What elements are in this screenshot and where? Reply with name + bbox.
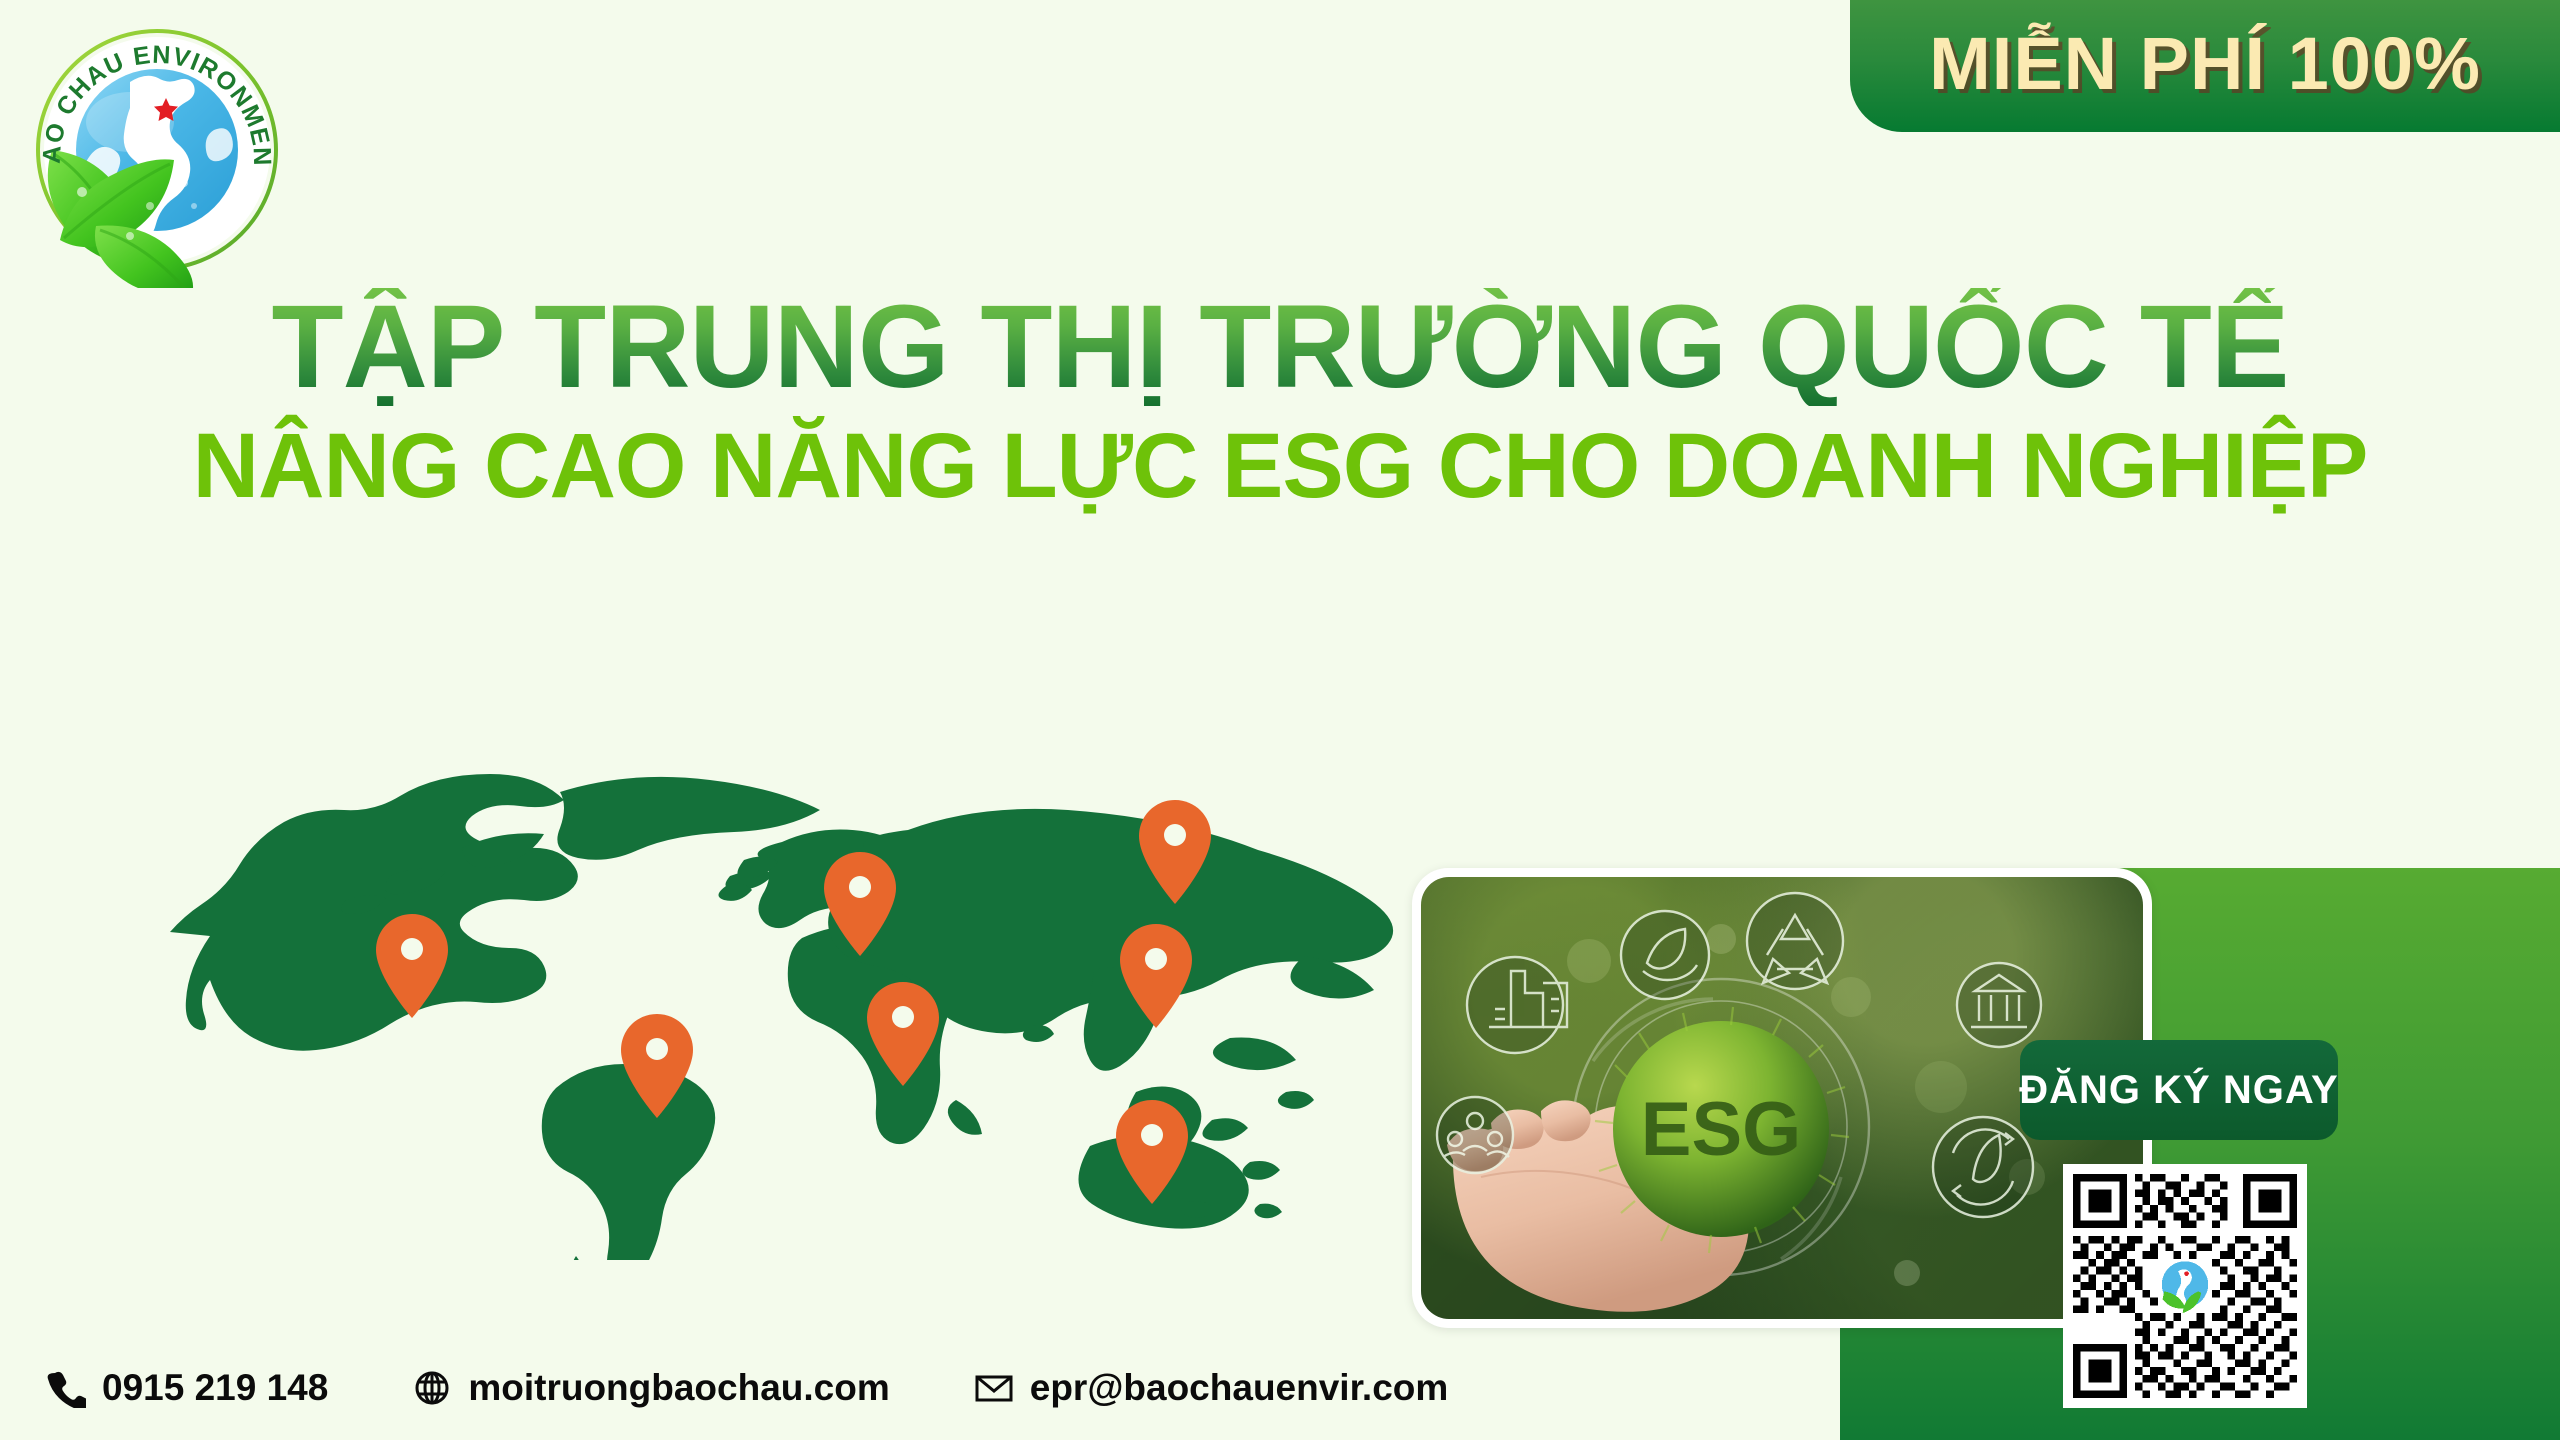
bank-institution-icon — [1957, 963, 2041, 1047]
leaf-cycle-icon — [1933, 1117, 2033, 1217]
registration-qr-code[interactable] — [2063, 1164, 2307, 1408]
website-url: moitruongbaochau.com — [468, 1367, 889, 1409]
factory-building-icon — [1467, 957, 1567, 1053]
recycle-icon — [1747, 893, 1843, 989]
contact-phone[interactable]: 0915 219 148 — [46, 1367, 328, 1409]
free-badge: MIỄN PHÍ 100% — [1850, 0, 2560, 132]
register-now-button[interactable]: ĐĂNG KÝ NGAY — [2020, 1040, 2338, 1140]
globe-icon — [412, 1368, 452, 1408]
free-badge-label: MIỄN PHÍ 100% — [1929, 21, 2481, 106]
esg-sphere-label: ESG — [1641, 1087, 1802, 1172]
world-map — [90, 700, 1410, 1260]
community-people-icon — [1437, 1097, 1513, 1173]
bao-chau-environment-logo: BAO CHAU ENVIRONMENT — [18, 10, 296, 288]
footer-contact-bar: 0915 219 148 moitruongbaochau.com epr@ba… — [0, 1336, 1560, 1440]
contact-email[interactable]: epr@baochauenvir.com — [974, 1367, 1449, 1409]
headline-secondary: NÂNG CAO NĂNG LỰC ESG CHO DOANH NGHIỆP — [0, 420, 2560, 512]
envelope-icon — [974, 1368, 1014, 1408]
leaf-in-hand-icon — [1621, 911, 1709, 999]
banner-canvas: BAO CHAU ENVIRONMENT MIỄN PHÍ 100% TẬP T… — [0, 0, 2560, 1440]
headline-block: TẬP TRUNG THỊ TRƯỜNG QUỐC TẾ NÂNG CAO NĂ… — [0, 288, 2560, 512]
register-now-label: ĐĂNG KÝ NGAY — [2019, 1068, 2338, 1113]
email-address: epr@baochauenvir.com — [1030, 1367, 1449, 1409]
qr-center-logo — [2158, 1259, 2212, 1313]
contact-website[interactable]: moitruongbaochau.com — [412, 1367, 889, 1409]
headline-primary: TẬP TRUNG THỊ TRƯỜNG QUỐC TẾ — [0, 288, 2560, 406]
map-landmasses — [170, 774, 1393, 1260]
phone-number: 0915 219 148 — [102, 1367, 328, 1409]
phone-icon — [46, 1368, 86, 1408]
